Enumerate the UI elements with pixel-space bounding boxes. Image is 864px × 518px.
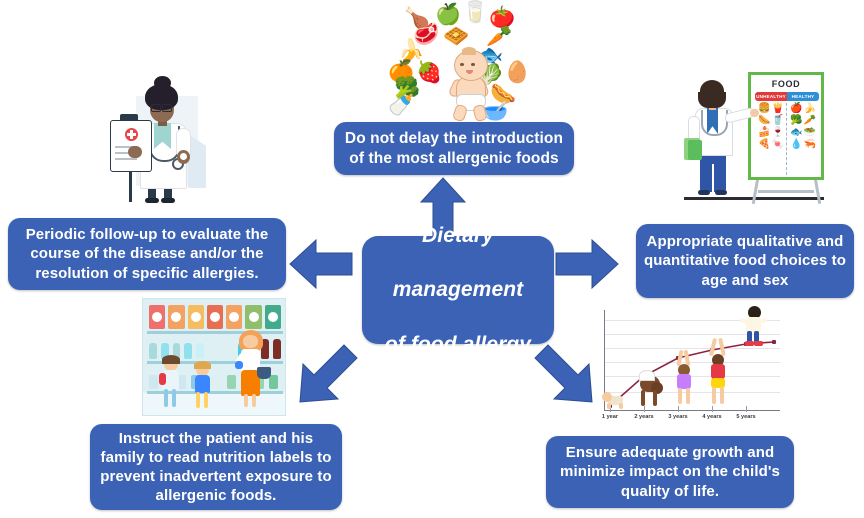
arrow-right-icon xyxy=(556,240,618,288)
growth-figure-5-years xyxy=(738,306,768,348)
poster-food-icon: 🍰 xyxy=(758,127,770,138)
poster-food-icon: 🍬 xyxy=(772,139,784,150)
node-label-top: Do not delay the introduction of the mos… xyxy=(342,129,566,169)
food-icon-cracker: 🧇 xyxy=(443,26,469,47)
node-label-bottom-right: Ensure adequate growth and minimize impa… xyxy=(554,443,786,501)
food-icon-baby-bottle: 🍼 xyxy=(388,95,414,116)
node-label-left: Periodic follow-up to evaluate the cours… xyxy=(16,225,278,283)
product-label-item xyxy=(235,361,243,369)
poster-food-icon: 🍟 xyxy=(772,103,784,114)
growth-x-label: 5 years xyxy=(729,414,763,420)
poster-tab-unhealthy: UNHEALTHY xyxy=(755,92,787,101)
illustration-baby-allergenic-foods: 🍗 🍏 🥛 🍅 🥩 🧇 🥕 🍌 🐟 🍊 🍓 🥬 🥚 🥦 🌭 🍼 🥣 xyxy=(382,2,554,120)
child-figure-younger xyxy=(191,363,215,409)
poster-food-icon: 🥕 xyxy=(804,115,816,126)
illustration-family-supermarket xyxy=(142,298,286,416)
node-box-right[interactable]: Appropriate qualitative and quantitative… xyxy=(636,224,854,298)
poster-food-icon: 🦐 xyxy=(804,139,816,150)
poster-food-icon: 🍷 xyxy=(772,127,784,138)
food-icon-banana: 🍌 xyxy=(398,40,424,61)
ok-hand-gesture-icon xyxy=(177,150,190,164)
center-line-3: of food allergy xyxy=(370,331,546,358)
baby-figure xyxy=(444,50,496,112)
food-icon-apple: 🍏 xyxy=(435,4,461,25)
poster-food-icon: 💧 xyxy=(790,139,802,150)
growth-figure-4-years xyxy=(706,338,730,408)
growth-x-label: 4 years xyxy=(695,414,729,420)
poster-food-icon: 🥗 xyxy=(804,127,816,138)
poster-food-icon: 🍔 xyxy=(758,103,770,114)
node-box-bottom-left[interactable]: Instruct the patient and his family to r… xyxy=(90,424,342,510)
poster-food-icon: 🍌 xyxy=(804,103,816,114)
node-box-bottom-right[interactable]: Ensure adequate growth and minimize impa… xyxy=(546,436,794,508)
illustration-nutritionist-food-poster: FOOD UNHEALTHY HEALTHY 🍔 🍟 🌭 🥤 🍰 🍷 🍕 🍬 xyxy=(676,66,826,204)
poster-food-icon: 🍕 xyxy=(758,139,770,150)
shopping-basket-icon xyxy=(257,367,271,379)
poster-food-icon: 🥦 xyxy=(790,115,802,126)
node-label-right: Appropriate qualitative and quantitative… xyxy=(644,232,846,290)
arrow-left-icon xyxy=(290,240,352,288)
child-figure-boy xyxy=(159,357,185,409)
growth-x-label: 1 year xyxy=(593,414,627,420)
center-line-2: management xyxy=(370,276,546,303)
poster-col-healthy: 🍎 🍌 🥦 🥕 🐟 🥗 💧 🦐 xyxy=(787,103,819,175)
poster-tab-healthy: HEALTHY xyxy=(787,92,819,101)
growth-x-label: 2 years xyxy=(627,414,661,420)
poster-food-icon: 🍎 xyxy=(790,103,802,114)
poster-food-icon: 🌭 xyxy=(758,115,770,126)
food-poster: FOOD UNHEALTHY HEALTHY 🍔 🍟 🌭 🥤 🍰 🍷 🍕 🍬 xyxy=(748,72,824,180)
growth-figure-2-years xyxy=(636,364,664,408)
arrow-down-left-icon xyxy=(300,336,366,402)
adult-figure-mother xyxy=(235,331,269,409)
food-icon-egg: 🥚 xyxy=(504,62,530,83)
food-icon-milk: 🥛 xyxy=(462,2,488,23)
poster-food-icon: 🐟 xyxy=(790,127,802,138)
center-node-label: Dietary management of food allergy xyxy=(370,222,546,358)
growth-figure-3-years xyxy=(672,350,696,408)
node-box-left[interactable]: Periodic follow-up to evaluate the cours… xyxy=(8,218,286,290)
center-line-1: Dietary xyxy=(370,222,546,249)
illustration-doctor-clipboard-ok xyxy=(92,78,214,202)
poster-title: FOOD xyxy=(751,79,821,89)
center-node[interactable]: Dietary management of food allergy xyxy=(362,236,554,344)
poster-col-unhealthy: 🍔 🍟 🌭 🥤 🍰 🍷 🍕 🍬 xyxy=(755,103,787,175)
growth-x-label: 3 years xyxy=(661,414,695,420)
node-label-bottom-left: Instruct the patient and his family to r… xyxy=(98,429,334,506)
poster-food-icon: 🥤 xyxy=(772,115,784,126)
growth-figure-1-year xyxy=(602,392,628,410)
diagram-canvas: 🍗 🍏 🥛 🍅 🥩 🧇 🥕 🍌 🐟 🍊 🍓 🥬 🥚 🥦 🌭 🍼 🥣 xyxy=(0,0,864,518)
node-box-top[interactable]: Do not delay the introduction of the mos… xyxy=(334,122,574,175)
medical-cross-icon xyxy=(125,128,138,141)
illustration-growth-chart: 1 year 2 years 3 years 4 years 5 years xyxy=(596,306,786,434)
